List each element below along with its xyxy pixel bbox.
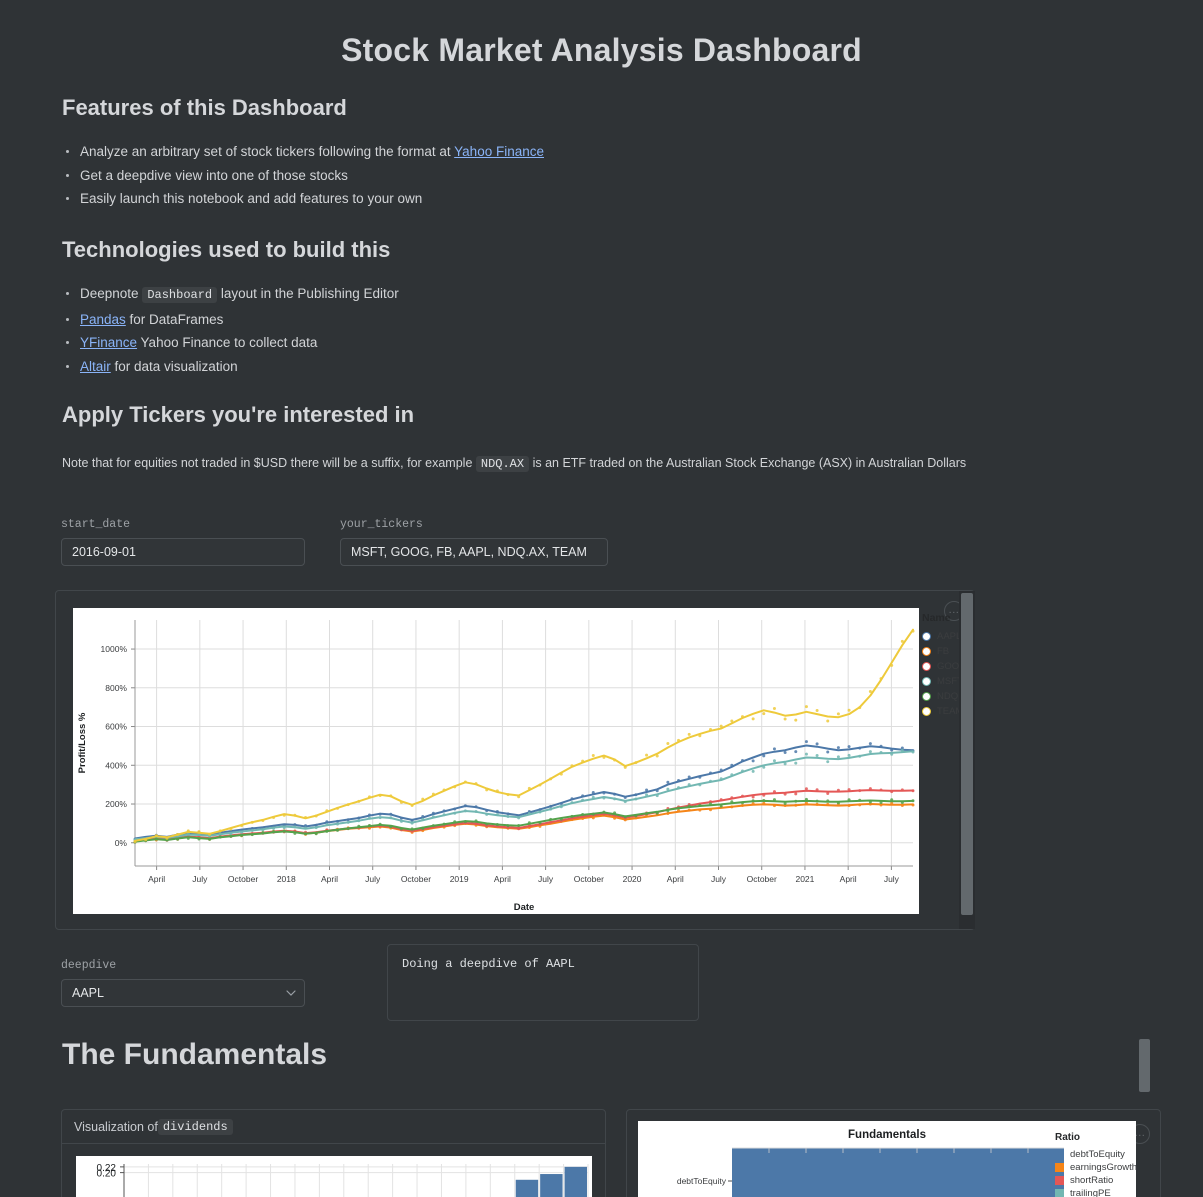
start-date-label: start_date — [61, 518, 305, 531]
svg-text:0%: 0% — [115, 838, 128, 848]
svg-text:April: April — [494, 874, 511, 884]
your-tickers-input[interactable] — [340, 538, 608, 566]
chart-scrollbar-thumb[interactable] — [961, 593, 973, 915]
legend-swatch-icon — [922, 662, 931, 671]
deepdive-output-box: Doing a deepdive of AAPL — [387, 944, 699, 1021]
svg-text:October: October — [401, 874, 431, 884]
tickers-note: Note that for equities not traded in $US… — [62, 454, 1072, 473]
tickers-heading: Apply Tickers you're interested in — [62, 402, 1072, 428]
svg-text:0.20: 0.20 — [97, 1169, 117, 1180]
svg-text:April: April — [148, 874, 165, 884]
profit-loss-chart-panel: ... AprilJulyOctober2018AprilJulyOctober… — [55, 590, 975, 930]
note-text-pre: Note that for equities not traded in $US… — [62, 456, 476, 470]
list-item: Analyze an arbitrary set of stock ticker… — [62, 140, 1062, 164]
fundamentals-legend-label: trailingPE — [1070, 1188, 1111, 1197]
altair-link[interactable]: Altair — [80, 359, 111, 374]
svg-text:April: April — [321, 874, 338, 884]
fundamentals-legend-item-trailingpe[interactable]: trailingPE — [1055, 1187, 1155, 1197]
fundamentals-legend-swatch-icon — [1055, 1163, 1064, 1172]
fundamentals-legend-label: earningsGrowth — [1070, 1162, 1137, 1173]
svg-text:October: October — [574, 874, 604, 884]
svg-text:200%: 200% — [105, 799, 127, 809]
dividends-svg: 0.220.20 — [76, 1156, 592, 1197]
fundamentals-legend-item-shortratio[interactable]: shortRatio — [1055, 1174, 1155, 1187]
start-date-input[interactable] — [61, 538, 305, 566]
svg-text:2019: 2019 — [450, 874, 469, 884]
svg-text:October: October — [747, 874, 777, 884]
svg-text:2020: 2020 — [623, 874, 642, 884]
fundamentals-heading: The Fundamentals — [62, 1038, 327, 1072]
feature-text-1: Analyze an arbitrary set of stock ticker… — [80, 144, 454, 159]
fundamentals-legend-label: debtToEquity — [1070, 1149, 1125, 1160]
fundamentals-legend-item-earningsgrowth[interactable]: earningsGrowth — [1055, 1161, 1155, 1174]
list-item: Pandas for DataFrames — [62, 308, 962, 332]
dividends-plot: 0.220.20 — [76, 1156, 592, 1197]
fundamentals-legend: Ratio debtToEquityearningsGrowthshortRat… — [1055, 1132, 1155, 1197]
list-item: YFinance Yahoo Finance to collect data — [62, 331, 962, 355]
list-item: Altair for data visualization — [62, 355, 962, 379]
fundamentals-section: The Fundamentals — [62, 1038, 327, 1072]
svg-text:400%: 400% — [105, 760, 127, 770]
dashboard-code-chip: Dashboard — [142, 287, 217, 303]
profit-loss-svg: AprilJulyOctober2018AprilJulyOctober2019… — [73, 608, 919, 914]
svg-text:Date: Date — [514, 902, 535, 913]
legend-swatch-icon — [922, 632, 931, 641]
fundamentals-legend-item-debttoequity[interactable]: debtToEquity — [1055, 1148, 1155, 1161]
feature-text-3: Easily launch this notebook and add feat… — [80, 191, 422, 206]
technologies-heading: Technologies used to build this — [62, 237, 962, 263]
legend-item-label: AAPL — [937, 631, 961, 642]
legend-item-label: FB — [937, 646, 949, 657]
your-tickers-label: your_tickers — [340, 518, 608, 531]
features-heading: Features of this Dashboard — [62, 95, 1062, 121]
tech-text-pre-1: Deepnote — [80, 286, 142, 301]
dividends-code-chip: dividends — [158, 1119, 233, 1135]
svg-text:April: April — [840, 874, 857, 884]
fundamentals-legend-swatch-icon — [1055, 1150, 1064, 1159]
ndq-code-chip: NDQ.AX — [476, 456, 529, 472]
your-tickers-field-group: your_tickers — [340, 518, 608, 566]
yfinance-link[interactable]: YFinance — [80, 335, 137, 350]
dashboard-page: Stock Market Analysis Dashboard Features… — [0, 0, 1203, 1197]
deepdive-field-group: deepdive AAPL — [61, 959, 305, 1007]
svg-text:July: July — [365, 874, 381, 884]
list-item: Get a deepdive view into one of those st… — [62, 164, 1062, 188]
fundamentals-panel: ... Fundamentals debtToEquity Ratio debt… — [626, 1109, 1161, 1197]
yahoo-finance-link[interactable]: Yahoo Finance — [454, 144, 544, 159]
technologies-list: Deepnote Dashboard layout in the Publish… — [62, 282, 962, 378]
tickers-section: Apply Tickers you're interested in Note … — [62, 402, 1072, 473]
svg-text:2021: 2021 — [795, 874, 814, 884]
start-date-field-group: start_date — [61, 518, 305, 566]
tech-text-post-2: for DataFrames — [126, 312, 224, 327]
profit-loss-plot: AprilJulyOctober2018AprilJulyOctober2019… — [73, 608, 919, 914]
tech-text-post-4: for data visualization — [111, 359, 238, 374]
tech-text-post-1: layout in the Publishing Editor — [217, 286, 399, 301]
page-title: Stock Market Analysis Dashboard — [0, 0, 1203, 69]
dividends-caption-pre: Visualization of — [74, 1120, 158, 1134]
svg-text:800%: 800% — [105, 683, 127, 693]
page-scrollbar-thumb[interactable] — [1139, 1039, 1150, 1092]
svg-text:July: July — [192, 874, 208, 884]
fundamentals-legend-title: Ratio — [1055, 1132, 1155, 1143]
legend-swatch-icon — [922, 707, 931, 716]
deepdive-label: deepdive — [61, 959, 305, 972]
feature-text-2: Get a deepdive view into one of those st… — [80, 168, 348, 183]
svg-text:1000%: 1000% — [101, 644, 128, 654]
technologies-section: Technologies used to build this Deepnote… — [62, 237, 962, 378]
legend-swatch-icon — [922, 692, 931, 701]
pandas-link[interactable]: Pandas — [80, 312, 126, 327]
note-text-post: is an ETF traded on the Australian Stock… — [529, 456, 966, 470]
svg-text:debtToEquity: debtToEquity — [677, 1176, 727, 1186]
chevron-down-icon — [286, 988, 295, 997]
features-section: Features of this Dashboard Analyze an ar… — [62, 95, 1062, 211]
svg-text:2018: 2018 — [277, 874, 296, 884]
tech-text-post-3: Yahoo Finance to collect data — [137, 335, 317, 350]
legend-swatch-icon — [922, 677, 931, 686]
dividends-caption: Visualization of dividends — [62, 1110, 605, 1144]
fundamentals-legend-swatch-icon — [1055, 1189, 1064, 1197]
svg-text:July: July — [538, 874, 554, 884]
svg-text:October: October — [228, 874, 258, 884]
fundamentals-legend-swatch-icon — [1055, 1176, 1064, 1185]
fundamentals-legend-label: shortRatio — [1070, 1175, 1113, 1186]
deepdive-output-text: Doing a deepdive of AAPL — [402, 957, 684, 971]
legend-swatch-icon — [922, 647, 931, 656]
list-item: Easily launch this notebook and add feat… — [62, 187, 1062, 211]
svg-text:600%: 600% — [105, 722, 127, 732]
deepdive-select[interactable]: AAPL — [61, 979, 305, 1007]
features-list: Analyze an arbitrary set of stock ticker… — [62, 140, 1062, 211]
svg-text:April: April — [667, 874, 684, 884]
svg-text:July: July — [711, 874, 727, 884]
dividends-panel: Visualization of dividends 0.220.20 — [61, 1109, 606, 1197]
svg-text:Fundamentals: Fundamentals — [848, 1129, 926, 1141]
deepdive-select-value: AAPL — [61, 979, 305, 1007]
svg-text:July: July — [884, 874, 900, 884]
svg-text:Profit/Loss %: Profit/Loss % — [77, 712, 88, 773]
list-item: Deepnote Dashboard layout in the Publish… — [62, 282, 962, 308]
